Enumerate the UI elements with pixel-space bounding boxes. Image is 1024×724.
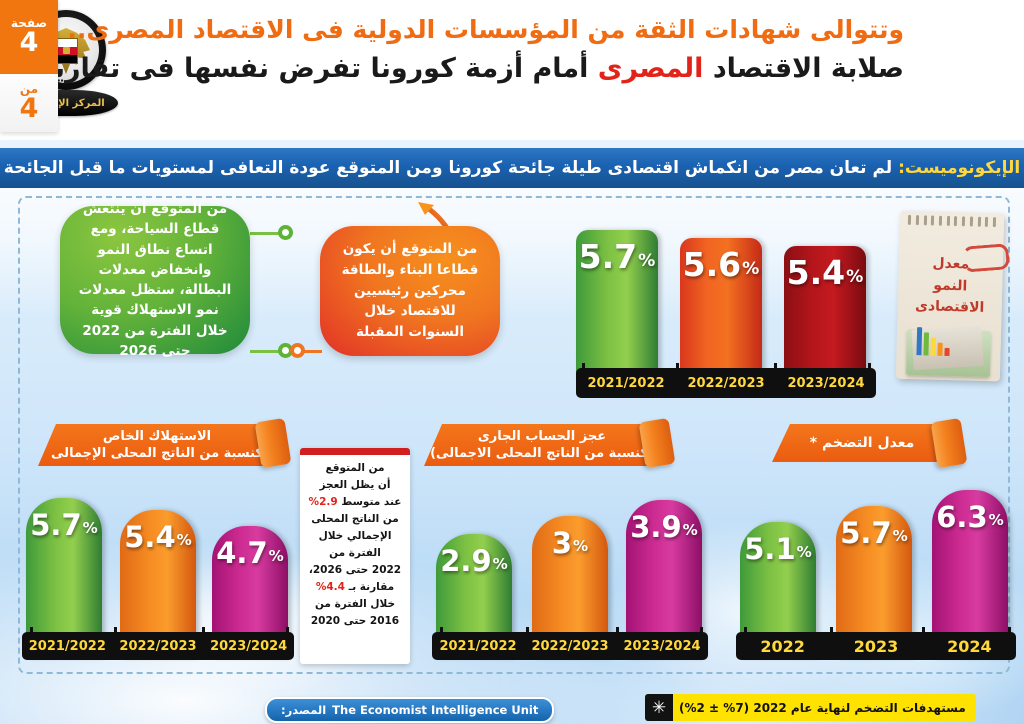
bar-value-text: 5.7: [840, 516, 891, 550]
bar-value-private-consumption-2: 4.7%: [212, 536, 288, 570]
bar-value-text: 5.7: [579, 237, 637, 276]
bar-value-inflation-1: 5.7%: [836, 516, 912, 550]
bar-value-text: 4.7: [216, 536, 267, 570]
bar-value-unit: %: [638, 251, 655, 271]
chart-inflation-bars: 5.1% 5.7% 6.3%: [736, 470, 1016, 658]
bar-value-unit: %: [177, 531, 192, 549]
axis-tick-0: 2023/2024: [616, 639, 708, 654]
axis-tick-2: 2022: [736, 637, 829, 656]
page-title: وتتوالى شهادات الثقة من المؤسسات الدولية…: [84, 14, 904, 86]
title-line-1: وتتوالى شهادات الثقة من المؤسسات الدولية…: [84, 14, 904, 45]
bar-value-unit: %: [683, 521, 698, 539]
bar-value-unit: %: [797, 543, 812, 561]
chart-current-account-deficit: 2.9% 3% 3.9% 2023/2024 2022/2023 2021/20…: [432, 470, 708, 658]
ribbon-private-consumption: الاستهلاك الخاص كنسبة من الناتج المحلى ا…: [38, 424, 276, 466]
page-indicator: صفحة 4 من 4: [0, 0, 58, 135]
bar-value-text: 3: [552, 526, 572, 560]
page-indicator-current: صفحة 4: [0, 0, 58, 74]
note-line-8: خلال الفترة من: [307, 596, 403, 613]
chart-economic-growth: 5.7% 5.6% 5.4% 2023/2024 2022/2023 2021/…: [576, 200, 876, 382]
notepad-title: معدل النمو الاقتصادى: [897, 253, 1003, 321]
bar-value-unit: %: [493, 555, 508, 573]
source-name: The Economist Intelligence Unit: [332, 703, 538, 717]
connector-dot-orange: [290, 343, 305, 358]
callout-orange: من المتوقع أن يكون قطاعا البناء والطاقة …: [320, 226, 500, 356]
note-line-9: 2016 حتى 2020: [307, 613, 403, 630]
chart-current-account-bars: 2.9% 3% 3.9%: [432, 470, 708, 658]
note-line-1: أن يظل العجز: [307, 477, 403, 494]
bar-value-text: 5.4: [787, 253, 845, 292]
ribbon-current-account-label: عجز الحساب الجارى (كنسبة من الناتج المحل…: [430, 428, 654, 462]
title-line-2-part-b: أمام أزمة كورونا تفرض نفسها فى تقارير ال…: [0, 53, 588, 84]
bar-value-text: 5.1: [744, 532, 795, 566]
note-line-7-value: 4.4%: [316, 581, 345, 593]
notepad-card: معدل النمو الاقتصادى: [896, 211, 1004, 382]
axis-tick-2: 2021/2022: [22, 639, 113, 654]
note-line-5: الفترة من: [307, 545, 403, 562]
notepad-spiral: [908, 215, 996, 227]
page-header: المركز الإعلامى وتتوالى شهادات الثقة من …: [0, 0, 1024, 140]
note-line-3: من الناتج المحلى: [307, 511, 403, 528]
bar-value-unit: %: [989, 511, 1004, 529]
note-line-7: مقارنة بـ 4.4%: [307, 579, 403, 596]
ribbon-private-consumption-label: الاستهلاك الخاص كنسبة من الناتج المحلى ا…: [51, 428, 263, 462]
axis-tick-1: 2023: [829, 637, 922, 656]
bar-value-economic-growth-2: 5.4%: [784, 253, 866, 292]
source-badge: The Economist Intelligence Unit المصدر:: [265, 697, 554, 723]
subtitle-source-label: الإيكونوميست:: [898, 158, 1020, 178]
title-line-2: صلابة الاقتصاد المصرى أمام أزمة كورونا ت…: [84, 51, 904, 86]
subtitle-bar: الإيكونوميست: لم تعان مصر من انكماش اقتص…: [0, 148, 1024, 188]
infographic-page: المركز الإعلامى وتتوالى شهادات الثقة من …: [0, 0, 1024, 724]
chart-private-consumption: 5.7% 5.4% 4.7% 2023/2024 2022/2023 2021/…: [22, 470, 294, 658]
callout-green-text: من المتوقع أن ينتعش قطاع السياحة، ومع ات…: [76, 199, 234, 361]
bar-value-text: 5.4: [124, 520, 175, 554]
callout-green: من المتوقع أن ينتعش قطاع السياحة، ومع ات…: [60, 206, 250, 354]
page-total: 4: [20, 95, 39, 123]
bar-value-current-account-1: 3%: [532, 526, 608, 560]
bar-value-current-account-0: 2.9%: [436, 544, 512, 578]
bar-value-private-consumption-1: 5.4%: [120, 520, 196, 554]
axis-tick-0: 2023/2024: [776, 376, 876, 391]
axis-tick-2: 2021/2022: [432, 639, 524, 654]
chart-inflation-axis: 2024 2023 2022: [736, 632, 1016, 660]
title-line-2-part-a: صلابة الاقتصاد: [713, 53, 904, 84]
note-line-2-a: عند متوسط: [338, 496, 402, 508]
chart-private-consumption-axis: 2023/2024 2022/2023 2021/2022: [22, 632, 294, 660]
deficit-note-text: من المتوقع أن يظل العجز عند متوسط 2.9% م…: [307, 460, 403, 630]
callout-orange-text: من المتوقع أن يكون قطاعا البناء والطاقة …: [336, 239, 484, 344]
source-label: المصدر:: [281, 703, 326, 717]
axis-tick-1: 2022/2023: [676, 376, 776, 391]
notepad-title-line-1: النمو: [898, 274, 1003, 298]
bar-value-inflation-2: 6.3%: [932, 500, 1008, 534]
bar-value-unit: %: [573, 537, 588, 555]
bar-value-text: 5.7: [30, 508, 81, 542]
bar-value-text: 5.6: [683, 245, 741, 284]
subtitle-body: لم تعان مصر من انكماش اقتصادى طيلة جائحة…: [4, 158, 892, 178]
page-number: 4: [20, 29, 39, 57]
bar-economic-growth-1: 5.6%: [680, 238, 762, 382]
bar-value-private-consumption-0: 5.7%: [26, 508, 102, 542]
bar-value-text: 2.9: [440, 544, 491, 578]
footnote-text: مستهدفات التضخم لنهاية عام 2022 (7% ± 2%…: [679, 701, 966, 715]
note-line-6: 2022 حتى 2026،: [307, 562, 403, 579]
notepad-title-line-0: معدل: [899, 253, 1004, 277]
axis-tick-0: 2023/2024: [203, 639, 294, 654]
bar-value-inflation-0: 5.1%: [740, 532, 816, 566]
ribbon-current-account: عجز الحساب الجارى (كنسبة من الناتج المحل…: [424, 424, 660, 466]
inflation-footnote-badge: ✳ مستهدفات التضخم لنهاية عام 2022 (7% ± …: [645, 694, 976, 721]
bar-economic-growth-0: 5.7%: [576, 230, 658, 382]
bar-value-unit: %: [846, 267, 863, 287]
note-line-7-a: مقارنة بـ: [345, 581, 394, 593]
axis-tick-2: 2021/2022: [576, 376, 676, 391]
bar-value-unit: %: [83, 519, 98, 537]
bar-value-unit: %: [742, 259, 759, 279]
bar-economic-growth-2: 5.4%: [784, 246, 866, 382]
chart-inflation-rate: 5.1% 5.7% 6.3% 2024 2023 2022: [736, 470, 1016, 658]
title-line-2-highlight: المصرى: [598, 53, 704, 84]
axis-tick-1: 2022/2023: [113, 639, 204, 654]
bar-value-text: 6.3: [936, 500, 987, 534]
chart-economic-growth-bars: 5.7% 5.6% 5.4%: [576, 200, 876, 382]
page-indicator-total: من 4: [0, 74, 58, 132]
chart-private-consumption-bars: 5.7% 5.4% 4.7%: [22, 470, 294, 658]
chart-current-account-axis: 2023/2024 2022/2023 2021/2022: [432, 632, 708, 660]
ribbon-inflation: معدل التضخم *: [772, 424, 952, 462]
asterisk-icon: ✳: [645, 694, 673, 721]
bar-value-current-account-2: 3.9%: [626, 510, 702, 544]
connector-dot-green-top: [278, 225, 293, 240]
chart-economic-growth-axis: 2023/2024 2022/2023 2021/2022: [576, 368, 876, 398]
axis-tick-0: 2024: [923, 637, 1016, 656]
note-line-4: الإجمالي خلال: [307, 528, 403, 545]
bar-value-economic-growth-1: 5.6%: [680, 245, 762, 284]
note-line-2: عند متوسط 2.9%: [307, 494, 403, 511]
bar-value-economic-growth-0: 5.7%: [576, 237, 658, 276]
axis-tick-1: 2022/2023: [524, 639, 616, 654]
bar-value-unit: %: [893, 527, 908, 545]
note-top-cap: [300, 448, 410, 455]
ribbon-inflation-label: معدل التضخم *: [810, 434, 915, 452]
bar-value-unit: %: [269, 547, 284, 565]
deficit-note-panel: من المتوقع أن يظل العجز عند متوسط 2.9% م…: [300, 448, 410, 664]
note-line-0: من المتوقع: [307, 460, 403, 477]
notepad-title-line-2: الاقتصادى: [897, 296, 1002, 320]
subtitle-text: الإيكونوميست: لم تعان مصر من انكماش اقتص…: [4, 158, 1020, 178]
note-line-2-value: 2.9%: [309, 496, 338, 508]
bar-value-text: 3.9: [630, 510, 681, 544]
mini-bar-chart-icon: [916, 325, 950, 356]
